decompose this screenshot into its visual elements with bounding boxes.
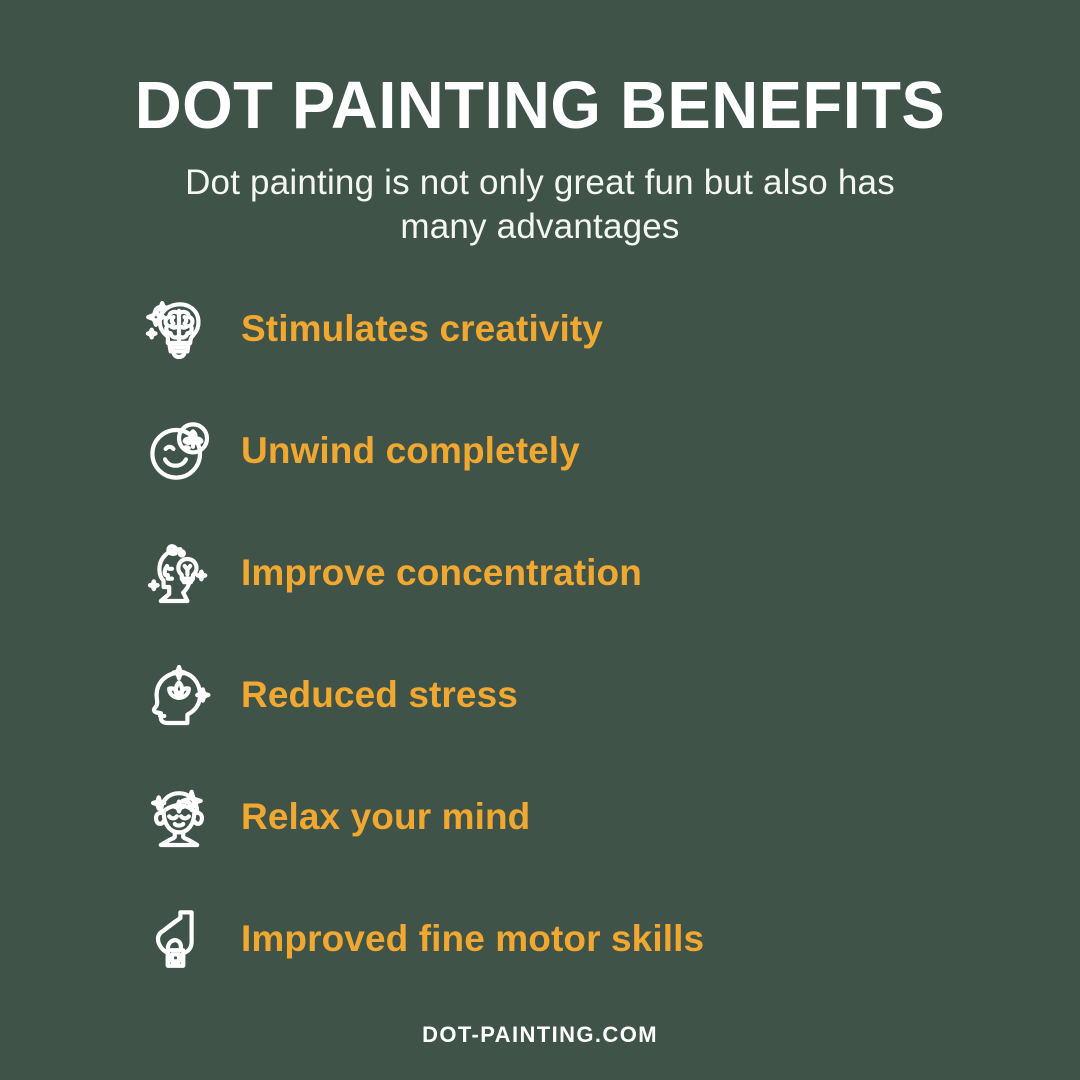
- poster-canvas: DOT PAINTING BENEFITS Dot painting is no…: [0, 0, 1080, 1080]
- benefit-label: Improved fine motor skills: [241, 918, 704, 960]
- list-item: Unwind completely: [143, 410, 1003, 492]
- header-block: DOT PAINTING BENEFITS Dot painting is no…: [0, 0, 1080, 249]
- list-item: Relax your mind: [143, 776, 1003, 858]
- list-item: Improve concentration: [143, 532, 1003, 614]
- benefit-label: Unwind completely: [241, 430, 580, 472]
- hand-holding-object-icon: [143, 899, 215, 979]
- benefit-label: Improve concentration: [241, 552, 642, 594]
- list-item: Stimulates creativity: [143, 288, 1003, 370]
- lightbulb-brain-sparkle-icon: [143, 289, 215, 369]
- benefits-list: Stimulates creativity: [143, 288, 1003, 980]
- benefit-label: Relax your mind: [241, 796, 530, 838]
- footer: DOT-PAINTING.COM: [0, 1022, 1080, 1048]
- page-subtitle: Dot painting is not only great fun but a…: [140, 161, 940, 249]
- benefit-label: Reduced stress: [241, 674, 518, 716]
- list-item: Improved fine motor skills: [143, 898, 1003, 980]
- website-url: DOT-PAINTING.COM: [422, 1022, 658, 1047]
- head-profile-lotus-icon: [143, 655, 215, 735]
- smiley-face-flower-icon: [143, 411, 215, 491]
- relaxed-face-sparkle-icon: [143, 777, 215, 857]
- page-title: DOT PAINTING BENEFITS: [16, 72, 1064, 139]
- list-item: Reduced stress: [143, 654, 1003, 736]
- benefit-label: Stimulates creativity: [241, 308, 603, 350]
- head-profile-lightbulb-icon: [143, 533, 215, 613]
